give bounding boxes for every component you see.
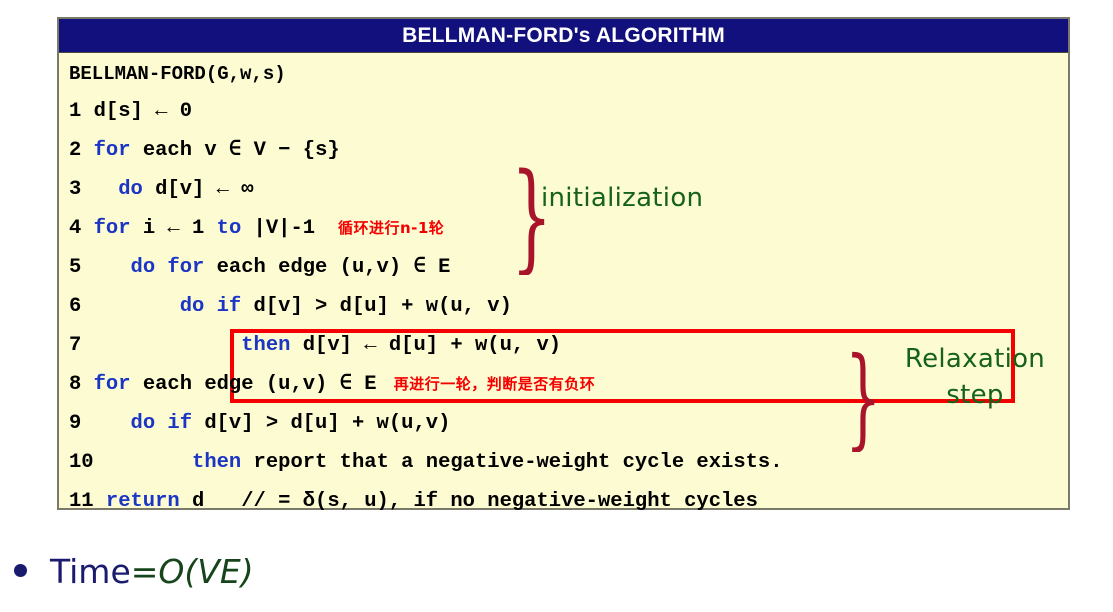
code-line-6: 6 do if d[v] > d[u] + w(u, v) [59, 287, 1068, 326]
code-text: each edge (u,v) ∈ E [204, 256, 450, 279]
code-text: i ← 1 [131, 217, 217, 240]
code-keyword: do [118, 178, 143, 201]
relaxation-step-label: Relaxation step [885, 341, 1065, 413]
code-keyword: for [94, 139, 131, 162]
line-number: 4 [69, 217, 94, 240]
line-number: 10 [69, 451, 192, 474]
initialization-brace: } [511, 157, 552, 275]
initialization-label: initialization [541, 183, 703, 213]
code-keyword: do if [131, 412, 193, 435]
time-label: Time [50, 552, 131, 591]
code-text: d[v] > d[u] + w(u, v) [241, 295, 512, 318]
code-text: d[v] > d[u] + w(u,v) [192, 412, 450, 435]
code-line-10: 10 then report that a negative-weight cy… [59, 443, 1068, 482]
code-line-list: 1 d[s] ← 02 for each v ∈ V − {s}3 do d[v… [59, 92, 1068, 521]
chinese-annotation: 再进行一轮，判断是否有负环 [377, 375, 596, 393]
line-number: 9 [69, 412, 131, 435]
code-line-4: 4 for i ← 1 to |V|-1 循环进行n-1轮 [59, 209, 1068, 248]
code-keyword: for [94, 373, 131, 396]
code-text: report that a negative-weight cycle exis… [241, 451, 782, 474]
code-keyword: do if [180, 295, 242, 318]
relaxation-brace: } [845, 342, 881, 452]
code-text: d[v] ← ∞ [143, 178, 254, 201]
panel-title: BELLMAN-FORD's ALGORITHM [59, 19, 1068, 53]
line-number: 3 [69, 178, 118, 201]
algorithm-panel: BELLMAN-FORD's ALGORITHM BELLMAN-FORD(G,… [57, 17, 1070, 510]
line-number: 7 [69, 334, 241, 357]
line-number: 5 [69, 256, 131, 279]
relaxation-step-line2: step [885, 377, 1065, 413]
code-signature: BELLMAN-FORD(G,w,s) [59, 57, 1068, 92]
code-line-5: 5 do for each edge (u,v) ∈ E [59, 248, 1068, 287]
code-text: each edge (u,v) ∈ E [131, 373, 377, 396]
pseudocode-area: BELLMAN-FORD(G,w,s) 1 d[s] ← 02 for each… [59, 53, 1068, 508]
code-keyword: then [192, 451, 241, 474]
line-number: 2 [69, 139, 94, 162]
code-keyword: then [241, 334, 290, 357]
code-keyword: for [94, 217, 131, 240]
code-line-1: 1 d[s] ← 0 [59, 92, 1068, 131]
relaxation-step-line1: Relaxation [885, 341, 1065, 377]
time-complexity-bullet: Time =O(VE) [14, 552, 254, 591]
code-text: each v ∈ V − {s} [131, 139, 340, 162]
code-text: d // = δ(s, u), if no negative-weight cy… [180, 490, 758, 513]
code-text: d[s] ← 0 [94, 100, 192, 123]
code-keyword: do for [131, 256, 205, 279]
code-line-11: 11 return d // = δ(s, u), if no negative… [59, 482, 1068, 521]
bullet-dot-icon [14, 564, 27, 577]
line-number: 6 [69, 295, 180, 318]
line-number: 11 [69, 490, 106, 513]
code-text: |V|-1 [241, 217, 315, 240]
code-keyword: to [217, 217, 242, 240]
line-number: 8 [69, 373, 94, 396]
code-line-2: 2 for each v ∈ V − {s} [59, 131, 1068, 170]
chinese-annotation: 循环进行n-1轮 [315, 219, 444, 237]
code-keyword: return [106, 490, 180, 513]
time-complexity-value: =O(VE) [131, 552, 254, 591]
line-number: 1 [69, 100, 94, 123]
code-text: d[v] ← d[u] + w(u, v) [290, 334, 561, 357]
